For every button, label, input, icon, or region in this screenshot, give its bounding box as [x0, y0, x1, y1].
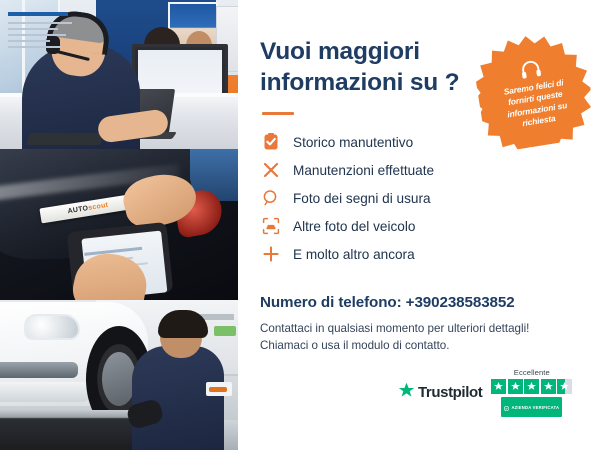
- trustpilot-score-block: Eccellente AZIENDA VERIFICATA: [491, 368, 572, 417]
- feature-label: E molto altro ancora: [293, 247, 415, 262]
- phone-label: Numero di telefono:: [260, 294, 402, 311]
- magnifier-icon: [260, 187, 282, 209]
- star-filled-1: [491, 379, 506, 394]
- phone-line: Numero di telefono: +390238583852: [260, 294, 578, 311]
- wrench-tools-icon: [260, 159, 282, 181]
- star-half-5: [557, 379, 572, 394]
- star-filled-3: [524, 379, 539, 394]
- badge-burst-shape: [470, 26, 598, 154]
- feature-item-manutenzioni-effettuate: Manutenzioni effettuate: [260, 157, 578, 184]
- sub-copy-line-1: Contattaci in qualsiasi momento per ulte…: [260, 320, 578, 338]
- trustpilot-wordmark: Trustpilot: [418, 384, 482, 401]
- feature-label: Altre foto del veicolo: [293, 219, 415, 234]
- call-center-agents-photo: [0, 0, 238, 149]
- star-filled-4: [541, 379, 556, 394]
- trustpilot-rating-label: Eccellente: [514, 368, 550, 377]
- feature-label: Foto dei segni di usura: [293, 191, 431, 206]
- strip-brand-dark: AUTO: [67, 205, 89, 215]
- trustpilot-stars: [491, 379, 572, 394]
- strip-brand-accent: scout: [88, 202, 109, 212]
- feature-list: Storico manutentivo Manutenzioni effettu…: [260, 129, 578, 268]
- vehicle-inspection-photo: AUTOscout: [0, 149, 238, 300]
- feature-item-altre-foto-veicolo: Altre foto del veicolo: [260, 213, 578, 240]
- trustpilot-rating-widget[interactable]: Trustpilot Eccellente AZIENDA VERIFICATA: [398, 368, 572, 417]
- mechanic-hair: [158, 310, 208, 338]
- trustpilot-star-logo-icon: [398, 382, 415, 404]
- shelf-bottle: [214, 326, 236, 336]
- title-underline-rule: [262, 112, 294, 115]
- request-info-badge: Saremo felici di fornirti queste informa…: [470, 26, 598, 154]
- page-title: Vuoi maggiori informazioni su ?: [260, 36, 465, 99]
- contact-sub-copy: Contattaci in qualsiasi momento per ulte…: [260, 320, 578, 355]
- car-headlight: [24, 314, 80, 340]
- verified-check-icon: [504, 398, 509, 416]
- scan-car-icon: [260, 215, 282, 237]
- info-content-panel: Vuoi maggiori informazioni su ? Storico …: [238, 0, 600, 450]
- trustpilot-brand: Trustpilot: [398, 382, 482, 404]
- workshop-wheel-service-photo: [0, 300, 238, 450]
- car-grille: [0, 362, 78, 378]
- feature-label: Storico manutentivo: [293, 135, 413, 150]
- monitor-screen-content: [8, 10, 80, 60]
- feature-item-foto-segni-usura: Foto dei segni di usura: [260, 185, 578, 212]
- plus-icon: [260, 243, 282, 265]
- sub-copy-line-2: Chiamaci o usa il modulo di contatto.: [260, 337, 578, 355]
- feature-label: Manutenzioni effettuate: [293, 163, 434, 178]
- photo-gallery-column: AUTOscout: [0, 0, 238, 450]
- phone-number[interactable]: +390238583852: [406, 294, 515, 311]
- clipboard-check-icon: [260, 131, 282, 153]
- verified-company-label: AZIENDA VERIFICATA: [511, 405, 559, 410]
- feature-item-molto-altro: E molto altro ancora: [260, 241, 578, 268]
- contact-info-ad-card: AUTOscout Vuoi maggio: [0, 0, 600, 450]
- keyboard: [26, 133, 103, 145]
- car-front-bumper: [0, 382, 90, 402]
- mechanic-uniform-badge: [206, 382, 232, 396]
- star-filled-2: [508, 379, 523, 394]
- verified-company-badge: AZIENDA VERIFICATA: [501, 397, 562, 417]
- mechanic-body: [132, 346, 224, 450]
